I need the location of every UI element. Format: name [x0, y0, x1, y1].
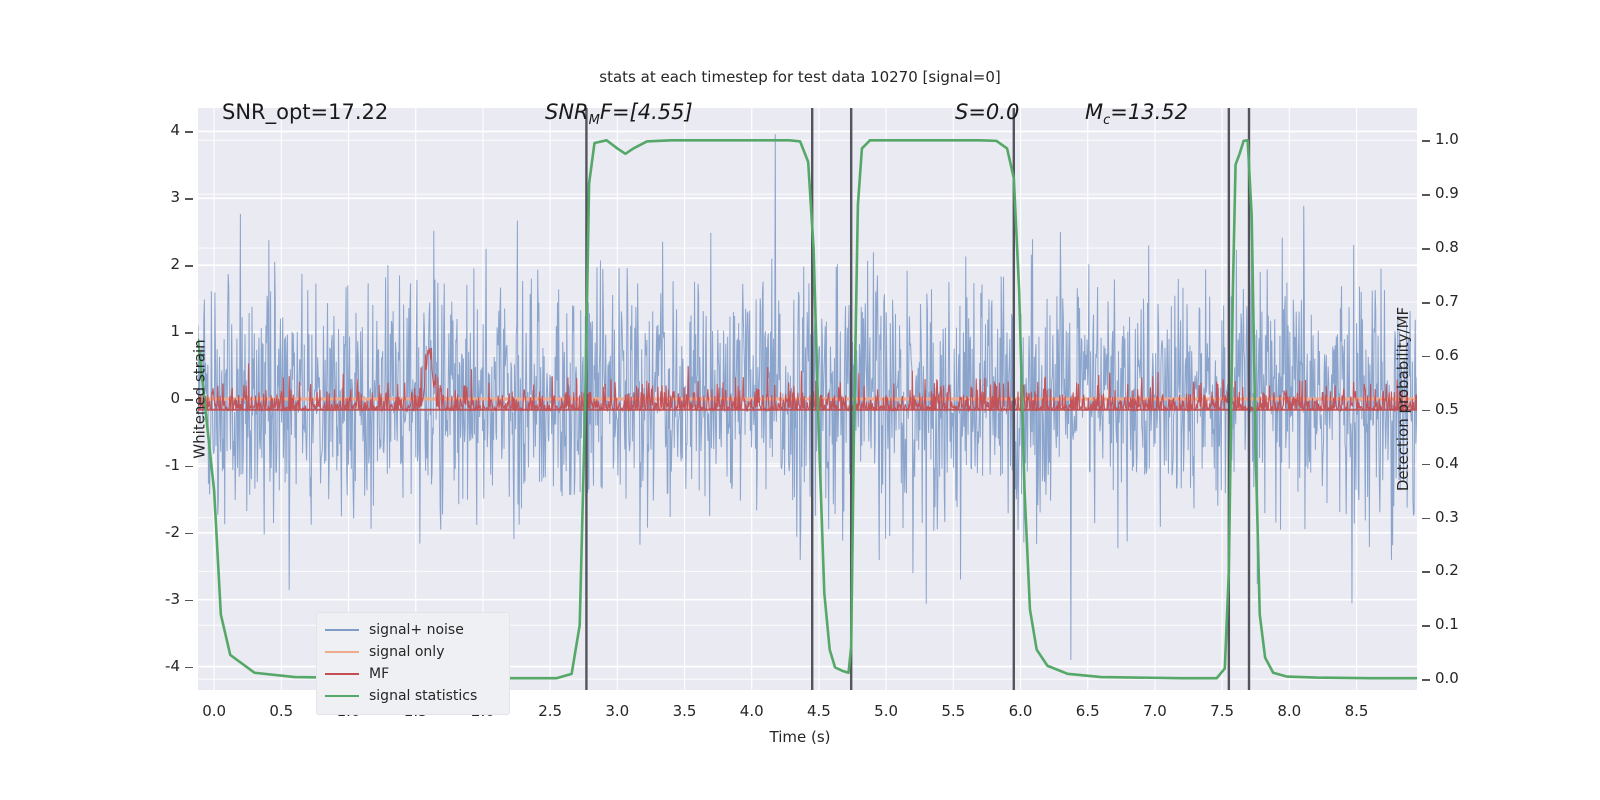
- annotation-snr-opt: SNR_opt=17.22: [222, 100, 388, 124]
- legend-swatch-mf: [325, 673, 359, 675]
- y-tick-label-right-10: 1.0: [1435, 130, 1495, 148]
- y-tick-label-left-1: -3: [120, 590, 180, 608]
- y-tick-label-left-8: 4: [120, 121, 180, 139]
- y-tick-mark-left-8: [185, 131, 193, 133]
- annotation-snr-mf-prefix: SNR: [545, 100, 589, 124]
- plot-canvas: [198, 108, 1417, 690]
- y-tick-mark-right-2: [1422, 571, 1430, 573]
- legend-swatch-signal-noise: [325, 629, 359, 631]
- y-tick-label-left-5: 1: [120, 322, 180, 340]
- x-tick-label-17: 8.5: [1317, 702, 1397, 720]
- y-tick-label-left-2: -2: [120, 523, 180, 541]
- y-tick-mark-left-0: [185, 667, 193, 669]
- y-tick-label-left-7: 3: [120, 188, 180, 206]
- y-tick-label-right-8: 0.8: [1435, 238, 1495, 256]
- legend-label-signal-only: signal only: [369, 644, 444, 660]
- legend-swatch-signal-statistics: [325, 695, 359, 697]
- legend-item-signal-noise: signal+ noise: [325, 619, 501, 641]
- y-tick-label-right-4: 0.4: [1435, 454, 1495, 472]
- y-tick-mark-right-7: [1422, 302, 1430, 304]
- y-tick-mark-right-10: [1422, 140, 1430, 142]
- y-tick-label-right-2: 0.2: [1435, 561, 1495, 579]
- y-tick-label-right-1: 0.1: [1435, 615, 1495, 633]
- legend: signal+ noise signal only MF signal stat…: [316, 612, 510, 715]
- legend-label-signal-noise: signal+ noise: [369, 622, 464, 638]
- y-tick-mark-left-3: [185, 466, 193, 468]
- y-tick-mark-left-5: [185, 332, 193, 334]
- y-tick-label-right-5: 0.5: [1435, 400, 1495, 418]
- y-tick-label-right-6: 0.6: [1435, 346, 1495, 364]
- annotation-snr-mf-sub: M: [589, 113, 600, 128]
- y-tick-label-left-6: 2: [120, 255, 180, 273]
- legend-swatch-signal-only: [325, 651, 359, 653]
- annotation-s-value-text: S=0.0: [955, 100, 1019, 124]
- y-tick-mark-right-6: [1422, 356, 1430, 358]
- y-tick-mark-right-4: [1422, 464, 1430, 466]
- y-tick-mark-right-1: [1422, 625, 1430, 627]
- y-tick-mark-left-7: [185, 198, 193, 200]
- annotation-snr-mf-suffix: F=[4.55]: [600, 100, 693, 124]
- chart-title: stats at each timestep for test data 102…: [0, 68, 1600, 86]
- y-tick-mark-right-5: [1422, 410, 1430, 412]
- y-tick-mark-left-6: [185, 265, 193, 267]
- legend-item-signal-only: signal only: [325, 641, 501, 663]
- figure-root: stats at each timestep for test data 102…: [0, 0, 1600, 800]
- legend-item-signal-statistics: signal statistics: [325, 685, 501, 707]
- y-tick-label-right-7: 0.7: [1435, 292, 1495, 310]
- legend-label-signal-statistics: signal statistics: [369, 688, 477, 704]
- y-tick-mark-right-8: [1422, 248, 1430, 250]
- x-axis-label: Time (s): [0, 728, 1600, 746]
- annotation-chirp-mass: Mc=13.52: [1085, 100, 1188, 128]
- y-tick-mark-right-0: [1422, 679, 1430, 681]
- y-tick-label-left-0: -4: [120, 657, 180, 675]
- plot-area: [198, 108, 1417, 690]
- y-tick-mark-left-4: [185, 399, 193, 401]
- legend-label-mf: MF: [369, 666, 389, 682]
- annotation-s-value: S=0.0: [955, 100, 1019, 124]
- y-tick-label-left-4: 0: [120, 389, 180, 407]
- y-tick-label-right-3: 0.3: [1435, 508, 1495, 526]
- annotation-mc-suffix: =13.52: [1110, 100, 1188, 124]
- y-tick-label-left-3: -1: [120, 456, 180, 474]
- y-tick-label-right-9: 0.9: [1435, 184, 1495, 202]
- legend-item-mf: MF: [325, 663, 501, 685]
- y-tick-mark-right-9: [1422, 194, 1430, 196]
- y-tick-mark-left-1: [185, 600, 193, 602]
- y-tick-mark-right-3: [1422, 518, 1430, 520]
- y-tick-mark-left-2: [185, 533, 193, 535]
- annotation-mc-prefix: M: [1085, 100, 1103, 124]
- annotation-snr-mf: SNRMF=[4.55]: [545, 100, 693, 128]
- y-tick-label-right-0: 0.0: [1435, 669, 1495, 687]
